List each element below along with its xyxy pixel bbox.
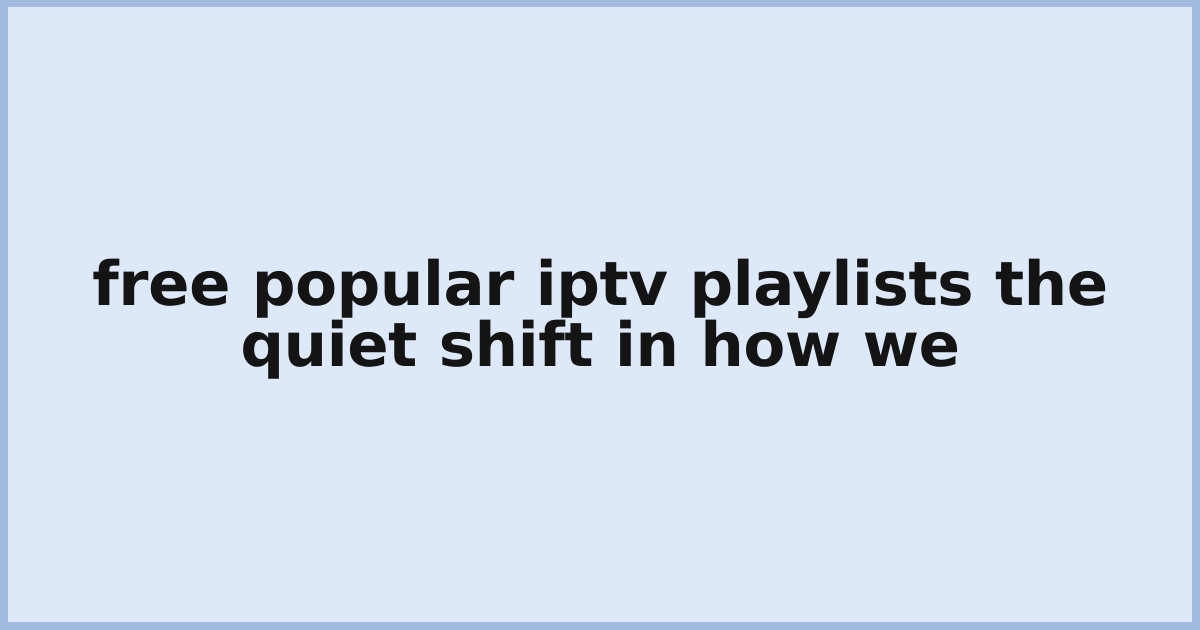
social-card: free popular iptv playlists the quiet sh… <box>0 0 1200 630</box>
page-title: free popular iptv playlists the quiet sh… <box>28 254 1172 376</box>
headline-container: free popular iptv playlists the quiet sh… <box>8 254 1192 376</box>
